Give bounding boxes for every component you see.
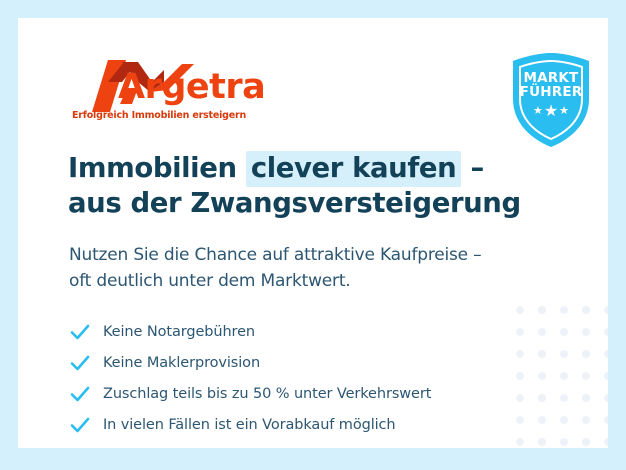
dot-decoration: [604, 416, 608, 424]
headline-suffix: –: [461, 152, 484, 184]
shield-icon: [507, 51, 595, 149]
dot-decoration: [560, 350, 568, 358]
dot-decoration: [560, 438, 568, 446]
dot-decoration: [560, 394, 568, 402]
subtitle-line-1: Nutzen Sie die Chance auf attraktive Kau…: [69, 242, 569, 268]
dot-decoration: [604, 350, 608, 358]
logo-wordmark: Argetra: [118, 70, 265, 105]
dot-decoration: [582, 306, 590, 314]
dot-decoration: [582, 416, 590, 424]
dot-decoration: [604, 328, 608, 336]
benefits-list: Keine Notargebühren Keine Maklerprovisio…: [69, 316, 539, 440]
check-icon: [69, 383, 91, 405]
list-item: Zuschlag teils bis zu 50 % unter Verkehr…: [69, 378, 539, 409]
list-item-label: Zuschlag teils bis zu 50 % unter Verkehr…: [103, 386, 431, 402]
dot-decoration: [582, 394, 590, 402]
dot-decoration: [516, 306, 524, 314]
promo-banner-frame: Argetra Erfolgreich Immobilien ersteiger…: [0, 0, 626, 470]
dot-decoration: [582, 350, 590, 358]
headline-line-1: Immobilien clever kaufen –: [68, 151, 568, 186]
argetra-logo: Argetra Erfolgreich Immobilien ersteiger…: [72, 60, 272, 128]
headline-highlight: clever kaufen: [246, 151, 462, 187]
list-item-label: Keine Maklerprovision: [103, 355, 260, 371]
check-icon: [69, 321, 91, 343]
list-item: Keine Notargebühren: [69, 316, 539, 347]
dot-decoration: [560, 306, 568, 314]
check-icon: [69, 414, 91, 436]
list-item: Keine Maklerprovision: [69, 347, 539, 378]
dot-decoration: [604, 306, 608, 314]
dot-decoration: [582, 372, 590, 380]
headline-line-2: aus der Zwangsversteigerung: [68, 186, 568, 221]
page-subtitle: Nutzen Sie die Chance auf attraktive Kau…: [69, 242, 569, 295]
dot-decoration: [560, 416, 568, 424]
page-title: Immobilien clever kaufen – aus der Zwang…: [68, 151, 568, 221]
dot-decoration: [538, 372, 546, 380]
dot-decoration: [538, 306, 546, 314]
dot-decoration: [538, 416, 546, 424]
dot-decoration: [604, 394, 608, 402]
dot-decoration: [604, 438, 608, 446]
dot-decoration: [538, 350, 546, 358]
dot-decoration: [538, 328, 546, 336]
dot-decoration: [538, 394, 546, 402]
dot-decoration: [604, 372, 608, 380]
dot-decoration: [582, 438, 590, 446]
subtitle-line-2: oft deutlich unter dem Marktwert.: [69, 268, 569, 294]
list-item: In vielen Fällen ist ein Vorabkauf mögli…: [69, 409, 539, 440]
check-icon: [69, 352, 91, 374]
dot-decoration: [560, 372, 568, 380]
logo-tagline: Erfolgreich Immobilien ersteigern: [72, 110, 246, 121]
market-leader-badge: MARKT FÜHRER ★ ★ ★: [507, 51, 595, 149]
headline-prefix: Immobilien: [68, 152, 246, 184]
dot-decoration: [560, 328, 568, 336]
promo-card: Argetra Erfolgreich Immobilien ersteiger…: [18, 18, 608, 448]
list-item-label: In vielen Fällen ist ein Vorabkauf mögli…: [103, 417, 396, 433]
dot-decoration: [582, 328, 590, 336]
dot-decoration: [538, 438, 546, 446]
list-item-label: Keine Notargebühren: [103, 324, 255, 340]
